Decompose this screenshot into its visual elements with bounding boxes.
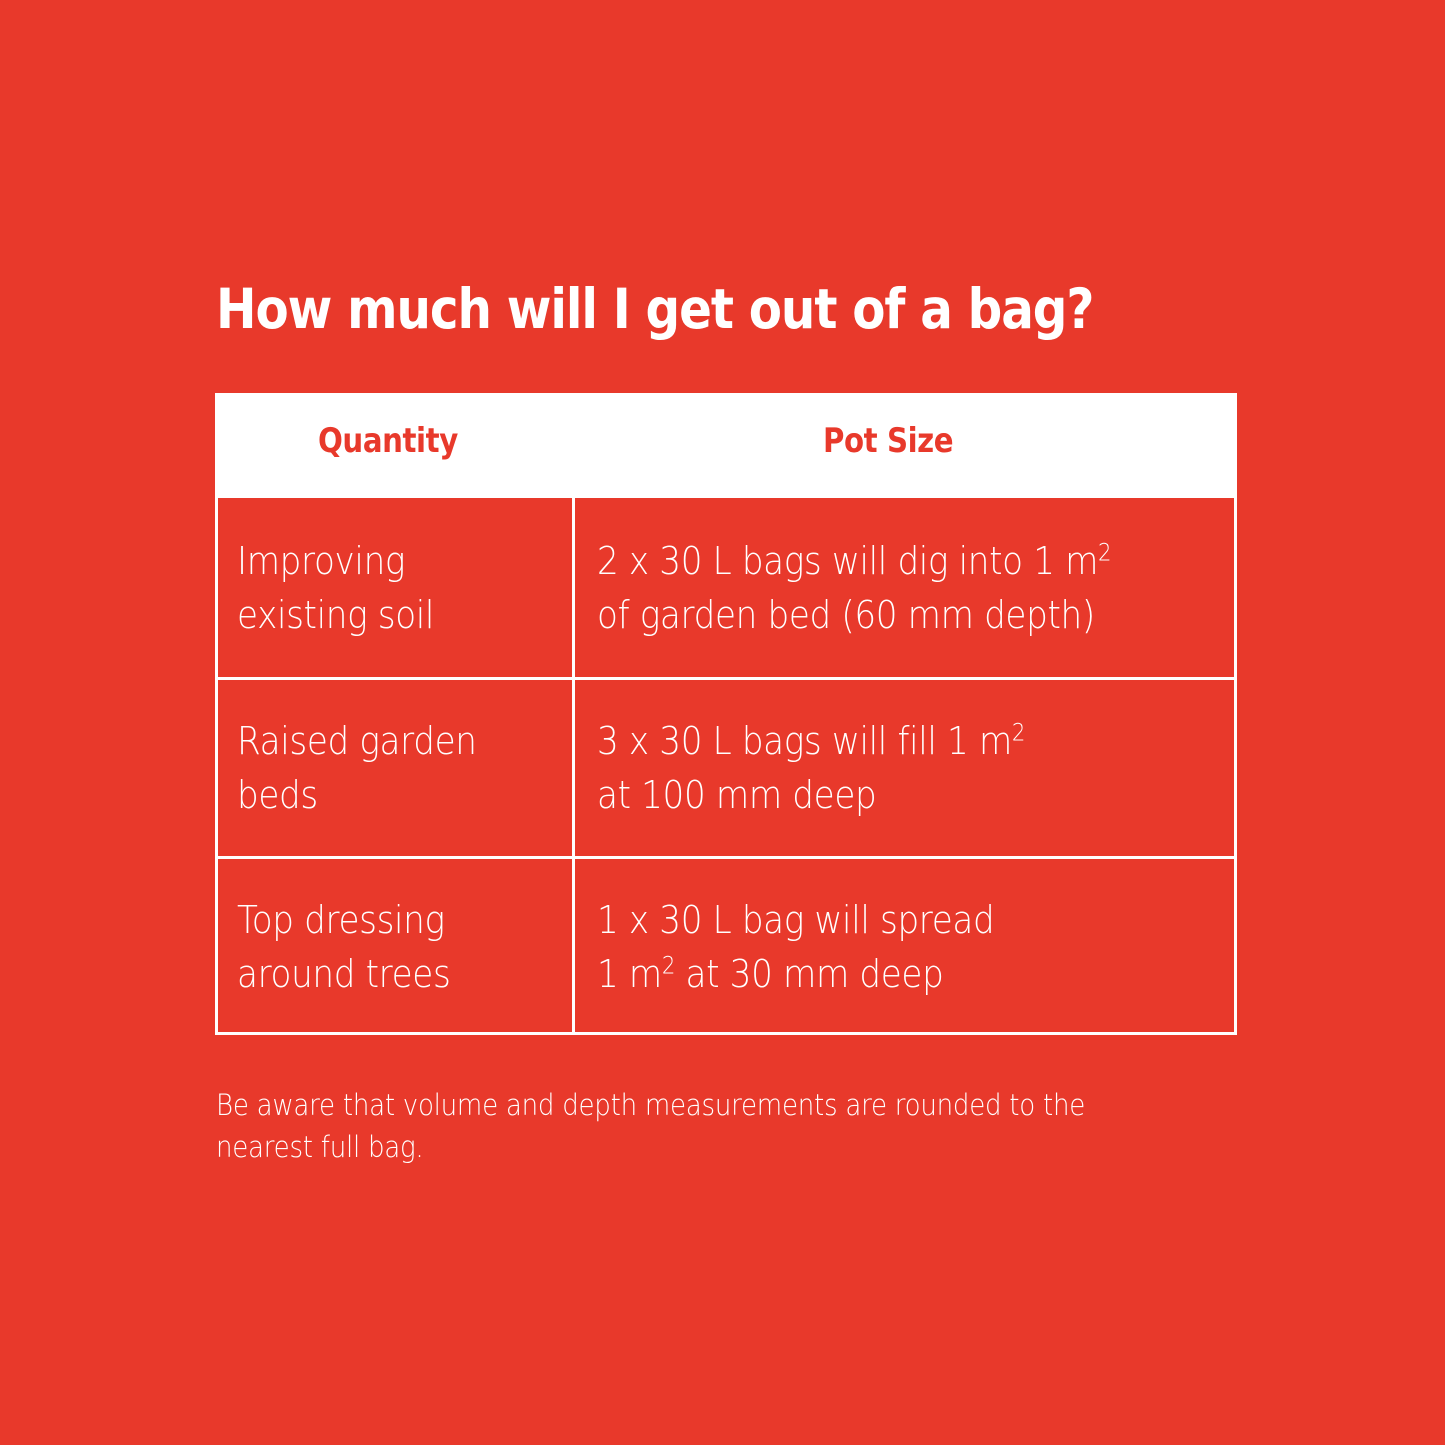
pot-size-line-1: 2 x 30 L bags will dig into 1 m xyxy=(597,539,1098,583)
quantity-text: Raised garden beds xyxy=(237,714,477,822)
pot-size-text: 3 x 30 L bags will fill 1 m2at 100 mm de… xyxy=(597,714,1025,822)
cell-quantity: Top dressing around trees xyxy=(218,859,572,1035)
table-body: Improving existing soil 2 x 30 L bags wi… xyxy=(215,498,1237,1035)
cell-quantity: Improving existing soil xyxy=(218,498,572,677)
cell-pot-size: 1 x 30 L bag will spread1 m2 at 30 mm de… xyxy=(572,859,1234,1035)
pot-size-line-2: at 100 mm deep xyxy=(597,773,876,817)
quantity-text: Improving existing soil xyxy=(237,534,434,642)
cell-pot-size: 2 x 30 L bags will dig into 1 m2of garde… xyxy=(572,498,1234,677)
square-unit-superscript: 2 xyxy=(1012,718,1025,746)
page-title: How much will I get out of a bag? xyxy=(216,277,1140,341)
table-row: Improving existing soil 2 x 30 L bags wi… xyxy=(218,498,1234,677)
pot-size-line-2-a: 1 m xyxy=(597,952,662,996)
pot-size-text: 1 x 30 L bag will spread1 m2 at 30 mm de… xyxy=(597,893,994,1001)
pot-size-text: 2 x 30 L bags will dig into 1 m2of garde… xyxy=(597,534,1111,642)
cell-quantity: Raised garden beds xyxy=(218,680,572,856)
pot-size-line-2-b: at 30 mm deep xyxy=(675,952,943,996)
column-header-quantity: Quantity xyxy=(318,419,458,463)
table-row: Raised garden beds 3 x 30 L bags will fi… xyxy=(218,677,1234,856)
column-header-pot-size: Pot Size xyxy=(823,419,953,463)
cell-pot-size: 3 x 30 L bags will fill 1 m2at 100 mm de… xyxy=(572,680,1234,856)
quantity-text: Top dressing around trees xyxy=(237,893,450,1001)
square-unit-superscript: 2 xyxy=(662,951,675,979)
footnote-text: Be aware that volume and depth measureme… xyxy=(216,1084,1125,1168)
bag-coverage-table: Quantity Pot Size Improving existing soi… xyxy=(215,393,1237,1035)
square-unit-superscript: 2 xyxy=(1098,538,1111,566)
pot-size-line-1: 3 x 30 L bags will fill 1 m xyxy=(597,719,1012,763)
pot-size-line-2: of garden bed (60 mm depth) xyxy=(597,593,1095,637)
pot-size-line-1: 1 x 30 L bag will spread xyxy=(597,898,994,942)
infographic-page: How much will I get out of a bag? Quanti… xyxy=(0,0,1445,1445)
table-row: Top dressing around trees 1 x 30 L bag w… xyxy=(218,856,1234,1035)
table-header-row: Quantity Pot Size xyxy=(215,393,1237,498)
